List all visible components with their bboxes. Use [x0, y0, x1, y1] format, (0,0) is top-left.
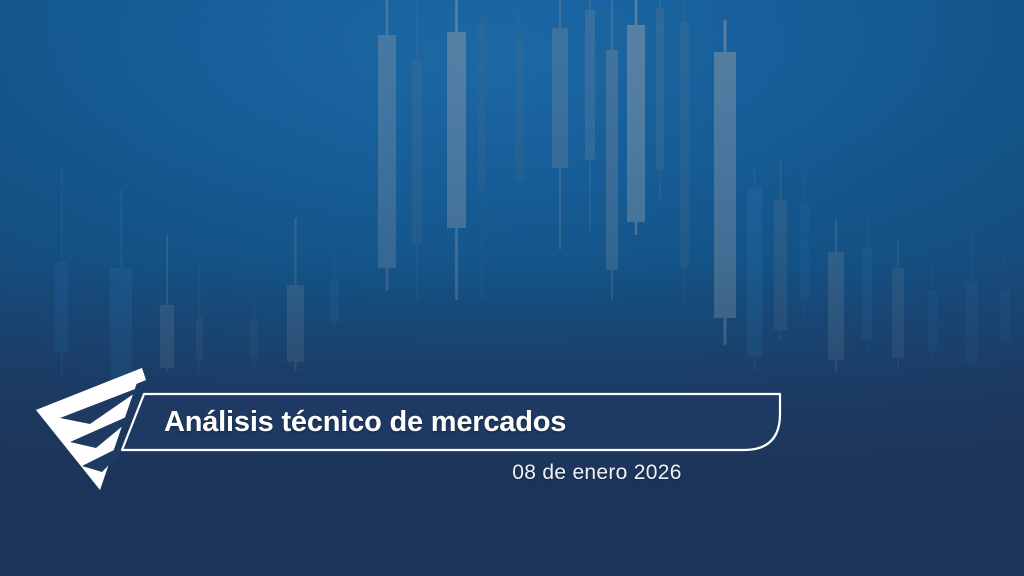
candlestick [892, 240, 904, 366]
candlestick [585, 0, 595, 230]
candlestick [862, 210, 872, 350]
candlestick [55, 168, 68, 380]
candlestick [412, 0, 422, 300]
candlestick [250, 298, 258, 368]
candlestick [627, 0, 645, 235]
candlestick [800, 172, 809, 320]
candlestick [747, 170, 762, 370]
candlestick [330, 250, 339, 330]
candlestick [828, 220, 844, 372]
candlestick [552, 0, 568, 250]
candlestick [656, 0, 664, 200]
candlestick [378, 0, 396, 290]
candlestick [287, 218, 304, 372]
presentation-slide: Análisis técnico de mercados 08 de enero… [0, 0, 1024, 576]
title-banner: Análisis técnico de mercados [120, 392, 782, 452]
candlestick [928, 262, 937, 360]
candlestick [196, 262, 203, 372]
candlestick [447, 0, 466, 300]
candlestick [160, 235, 174, 372]
candlestick [714, 20, 736, 345]
candlestick [478, 0, 486, 300]
background-candlestick-chart [0, 0, 1024, 576]
candlestick [606, 0, 618, 300]
slide-date: 08 de enero 2026 [0, 461, 1024, 485]
candlestick [680, 0, 689, 300]
candlestick [1000, 255, 1010, 350]
page-title: Análisis técnico de mercados [164, 392, 566, 452]
candlestick [965, 230, 978, 372]
candlestick [774, 160, 787, 340]
candlestick [515, 0, 524, 205]
